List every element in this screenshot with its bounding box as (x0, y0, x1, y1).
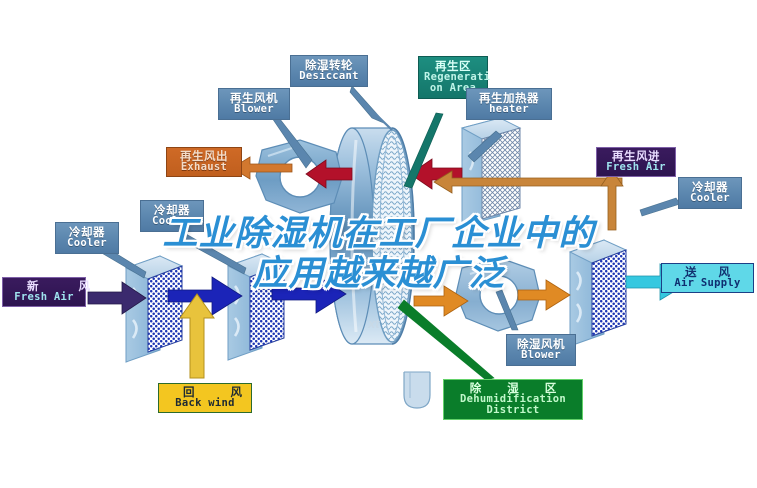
label-regeneration-fresh-air-en: Fresh Air (603, 162, 669, 173)
leader-cooler-left-inner (182, 234, 246, 274)
label-air-supply[interactable]: 送 风 Air Supply (661, 263, 754, 293)
label-cooler-right[interactable]: 冷却器 Cooler (678, 177, 742, 209)
leader-cooler-right (640, 198, 680, 216)
leader-dehum-blower (496, 290, 518, 330)
label-regeneration-fresh-air[interactable]: 再生风进 Fresh Air (596, 147, 676, 177)
label-desiccant-rotor[interactable]: 除湿转轮 Desiccant (290, 55, 368, 87)
leader-regen-blower (272, 114, 312, 168)
label-dehumidification-district[interactable]: 除 湿 区 Dehumidification District (443, 379, 583, 420)
label-cooler-left-inner-en: Cooler (146, 216, 198, 227)
label-regeneration-heater[interactable]: 再生加热器 heater (466, 88, 552, 120)
label-air-supply-en: Air Supply (669, 278, 746, 289)
label-fresh-air-intake-en: Fresh Air (9, 292, 79, 303)
diagram-canvas: xt 除湿转轮 Desiccant 再生风机 Blower 再生区 Regene… (0, 0, 757, 488)
label-cooler-left-outer-en: Cooler (61, 238, 113, 249)
leader-regeneration-area (404, 113, 443, 188)
label-dehumidification-district-en2: District (452, 405, 574, 416)
label-dehumidification-blower[interactable]: 除湿风机 Blower (506, 334, 576, 366)
label-regeneration-heater-en: heater (472, 104, 546, 115)
label-cooler-right-en: Cooler (684, 193, 736, 204)
label-fresh-air-intake[interactable]: 新 风 Fresh Air (2, 277, 86, 307)
label-desiccant-rotor-en: Desiccant (296, 71, 362, 82)
leader-dehum-district (398, 300, 494, 380)
leader-heater (468, 131, 502, 162)
label-exhaust-en: Exhaust (172, 162, 236, 173)
label-back-wind-en: Back wind (167, 398, 243, 409)
label-back-wind[interactable]: 回 风 Back wind (158, 383, 252, 413)
label-exhaust[interactable]: 再生风出 Exhaust (166, 147, 242, 177)
label-cooler-left-outer[interactable]: 冷却器 Cooler (55, 222, 119, 254)
label-dehumidification-blower-en: Blower (512, 350, 570, 361)
label-regeneration-blower[interactable]: 再生风机 Blower (218, 88, 290, 120)
label-regeneration-blower-en: Blower (224, 104, 284, 115)
label-cooler-left-inner[interactable]: 冷却器 Cooler (140, 200, 204, 232)
